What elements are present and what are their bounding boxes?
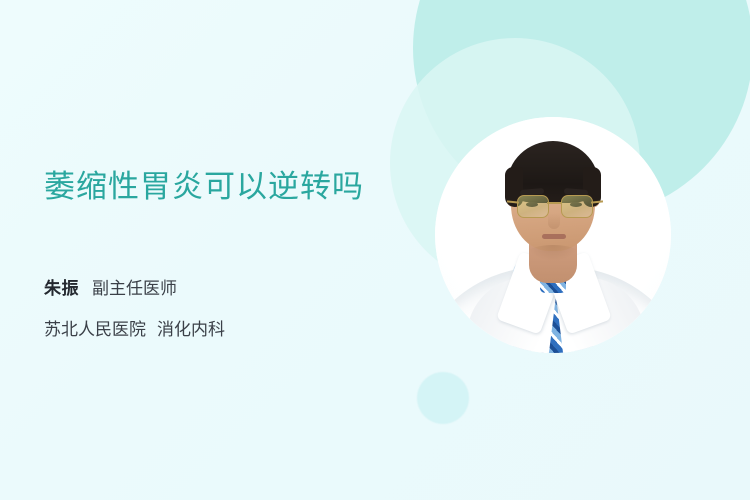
text-column: 萎缩性胃炎可以逆转吗 朱振副主任医师 苏北人民医院消化内科	[44, 0, 444, 500]
nose	[548, 213, 560, 229]
mouth	[542, 234, 566, 239]
glasses-lens-right	[561, 195, 593, 218]
doctor-qa-card: 萎缩性胃炎可以逆转吗 朱振副主任医师 苏北人民医院消化内科	[0, 0, 750, 500]
doctor-affiliation-line: 苏北人民医院消化内科	[44, 318, 225, 342]
portrait-clip	[435, 117, 671, 353]
glasses-bridge	[547, 202, 561, 204]
glasses-lens-left	[517, 195, 549, 218]
department-name: 消化内科	[157, 320, 225, 339]
doctor-name: 朱振	[44, 279, 79, 298]
page-title: 萎缩性胃炎可以逆转吗	[44, 168, 364, 207]
chin-shadow	[527, 245, 579, 261]
hospital-name: 苏北人民医院	[44, 320, 146, 339]
doctor-portrait	[435, 117, 671, 353]
doctor-professional-title: 副主任医师	[92, 279, 177, 298]
doctor-credentials-line: 朱振副主任医师	[44, 277, 177, 301]
